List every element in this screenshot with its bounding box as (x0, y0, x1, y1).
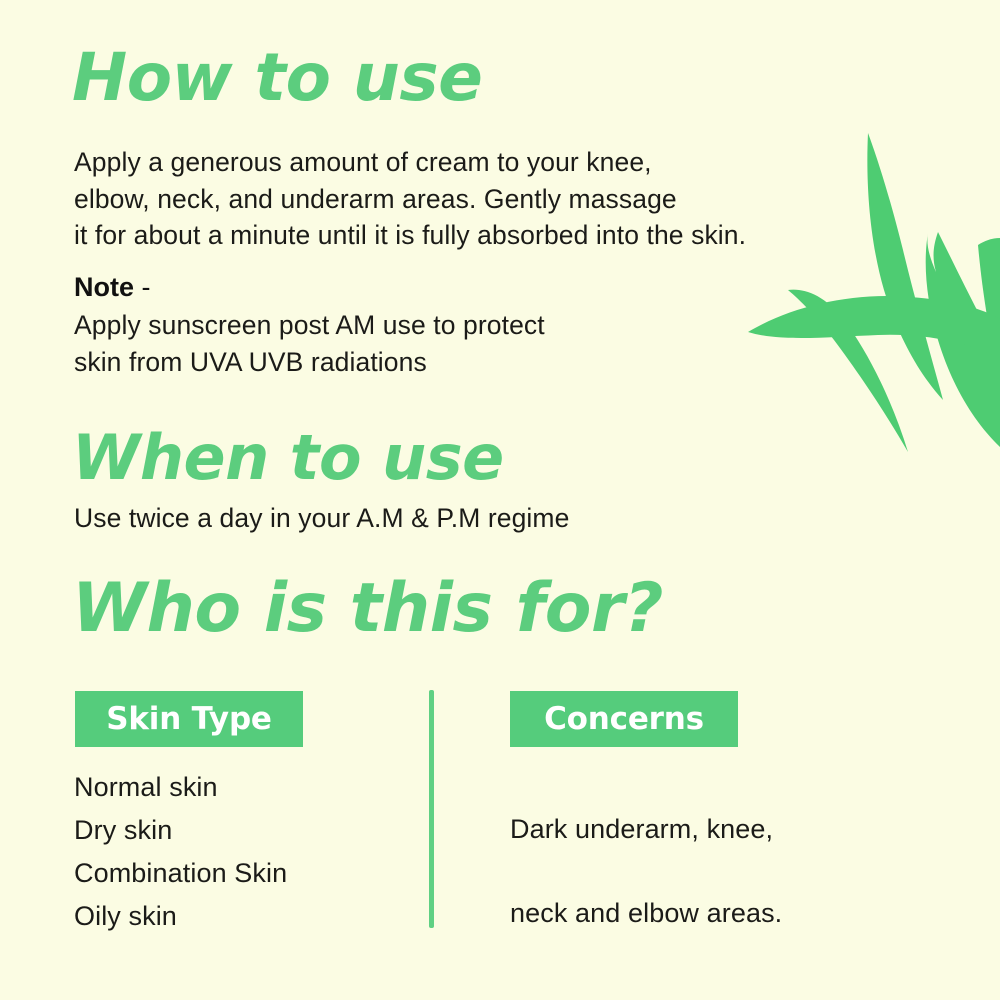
note-label: Note - (74, 270, 151, 304)
heading-how-to-use: How to use (72, 45, 482, 111)
list-skin-type: Normal skin Dry skin Combination Skin Oi… (74, 766, 287, 938)
leaf-icon (740, 0, 1000, 500)
heading-when-to-use: When to use (72, 427, 504, 489)
list-item: Normal skin (74, 766, 287, 809)
tag-skin-type: Skin Type (75, 691, 303, 747)
list-item: Combination Skin (74, 852, 287, 895)
list-item: Dry skin (74, 809, 287, 852)
list-item: Oily skin (74, 895, 287, 938)
note-label-text: Note (74, 272, 134, 302)
how-to-use-body: Apply a generous amount of cream to your… (74, 144, 746, 254)
heading-who-is-this-for: Who is this for? (72, 575, 663, 643)
column-divider (429, 690, 434, 928)
when-to-use-body: Use twice a day in your A.M & P.M regime (74, 500, 569, 537)
note-label-dash: - (134, 272, 151, 302)
list-concerns: Dark underarm, knee, neck and elbow area… (510, 766, 782, 976)
list-item: Dark underarm, knee, (510, 808, 782, 850)
list-item: neck and elbow areas. (510, 892, 782, 934)
note-body: Apply sunscreen post AM use to protect s… (74, 307, 545, 380)
product-usage-infographic: How to use Apply a generous amount of cr… (0, 0, 1000, 1000)
tag-concerns: Concerns (510, 691, 738, 747)
